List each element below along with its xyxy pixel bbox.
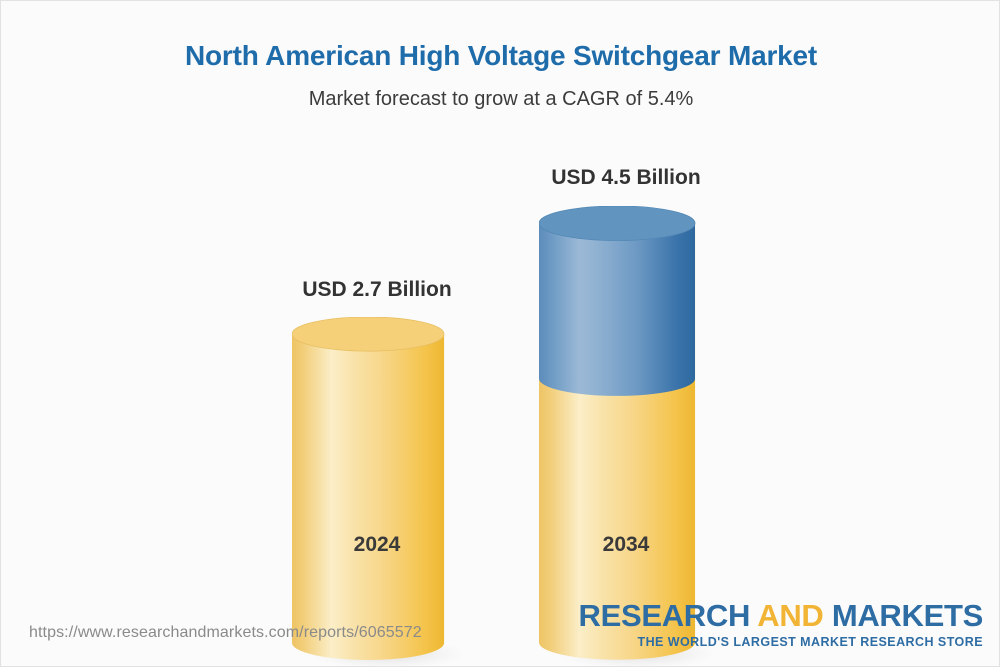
- brand-wordmark-and: AND: [757, 598, 823, 633]
- infographic-card: North American High Voltage Switchgear M…: [0, 0, 1000, 667]
- brand-tagline: THE WORLD'S LARGEST MARKET RESEARCH STOR…: [579, 636, 984, 649]
- bar-body-2024: [292, 334, 444, 660]
- brand-wordmark: RESEARCH AND MARKETS: [579, 600, 984, 631]
- bar-value-label-2024: USD 2.7 Billion: [227, 278, 527, 302]
- bar-category-label-2034: 2034: [476, 533, 776, 557]
- brand-wordmark-markets: MARKETS: [824, 598, 984, 633]
- brand-logo[interactable]: RESEARCH AND MARKETS THE WORLD'S LARGEST…: [579, 600, 984, 649]
- brand-wordmark-research: RESEARCH: [579, 598, 758, 633]
- source-url[interactable]: https://www.researchandmarkets.com/repor…: [29, 624, 422, 642]
- bar-body-growth-segment-2034: [539, 223, 695, 396]
- bar-value-label-2034: USD 4.5 Billion: [476, 166, 776, 190]
- chart-plot-area: USD 2.7 Billion: [1, 1, 1000, 667]
- bar-cylinder-2024: [292, 317, 462, 667]
